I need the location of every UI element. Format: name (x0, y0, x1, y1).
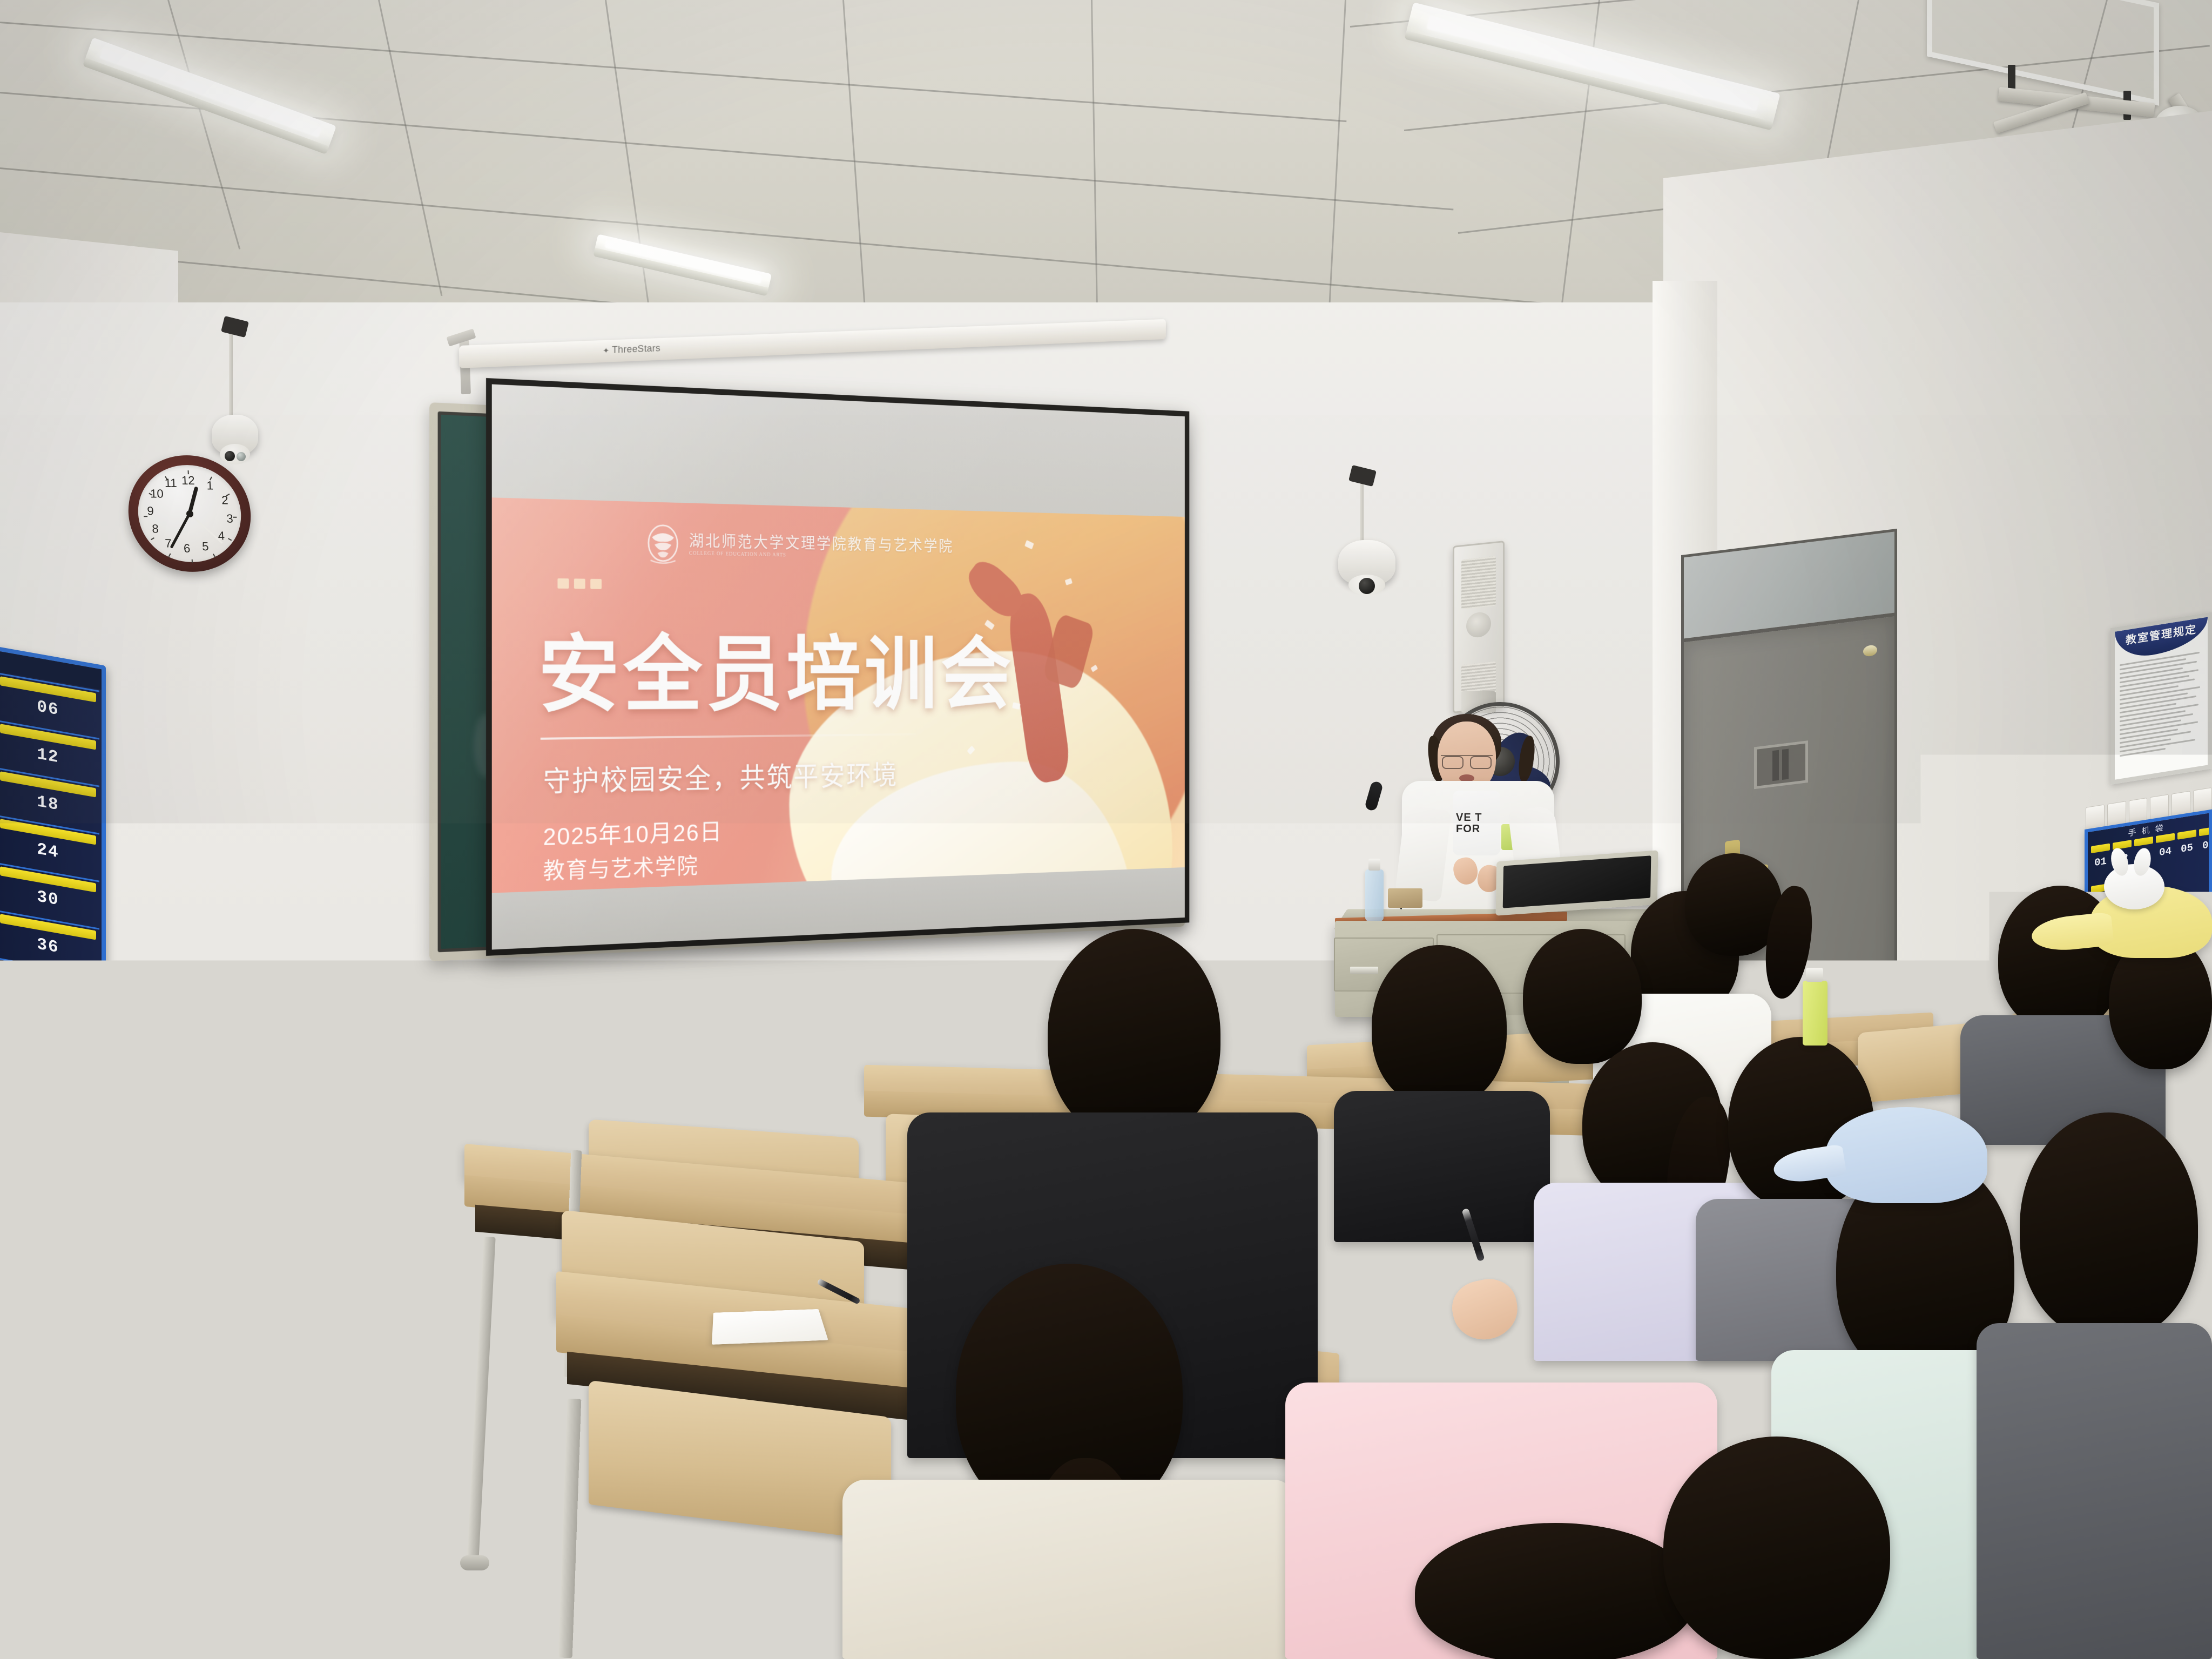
slide-organization: 教育与艺术学院 (543, 848, 699, 886)
notepad[interactable] (712, 1309, 828, 1345)
bottle-cap (1368, 859, 1380, 871)
clock-number: 10 (150, 487, 164, 501)
clock-number: 3 (226, 512, 233, 526)
light-blue-cap (1825, 1107, 1987, 1203)
pocket-number: 01 (2090, 854, 2111, 869)
bunny-plush-icon (2104, 864, 2164, 909)
student-torso (1977, 1323, 2212, 1659)
monitor-screen (1503, 855, 1651, 908)
pocket-number: 04 (2155, 844, 2176, 859)
presenter-hair-side (1516, 735, 1537, 783)
clock-number: 9 (147, 504, 154, 518)
student-head (1523, 929, 1642, 1064)
water-bottle[interactable] (1365, 869, 1384, 921)
chalk-box[interactable] (1388, 888, 1422, 908)
classroom-rules-poster: 教室管理规定 (2110, 612, 2212, 785)
presenter-glasses (1441, 755, 1493, 766)
camera-ir-icon (237, 452, 246, 461)
camera-lens-icon (225, 451, 235, 461)
door-peephole-icon (1863, 644, 1877, 657)
clock-number: 8 (152, 522, 159, 536)
phone-pocket-board-left: 06 12 18 24 30 36 42 48 (0, 645, 106, 1114)
projection-screen[interactable]: 湖北师范大学文理学院教育与艺术学院 COLLEGE OF EDUCATION A… (486, 378, 1189, 956)
student-head (1372, 945, 1507, 1107)
slide-content: 湖北师范大学文理学院教育与艺术学院 COLLEGE OF EDUCATION A… (492, 497, 1185, 899)
clock-number: 11 (164, 476, 177, 490)
university-emblem-icon (644, 521, 681, 567)
slide-date: 2025年10月26日 (543, 813, 723, 852)
student-head (2020, 1112, 2198, 1339)
screen-brand-label: ThreeStars (603, 343, 660, 357)
shirt-text-line-2: FOR (1456, 823, 1480, 835)
camera-mount-arm (229, 324, 233, 421)
student-torso (842, 1480, 1296, 1659)
door-vent (1754, 740, 1808, 789)
student-head (1048, 929, 1220, 1139)
classroom-photo: ThreeStars (0, 0, 2212, 1659)
clock-number: 12 (181, 474, 195, 488)
desk-leg-foot (460, 1555, 489, 1570)
slide-subtitle: 守护校园安全，共筑平安环境 (543, 754, 899, 800)
clock-face: 12 1 2 3 4 5 6 7 8 9 10 11 (136, 464, 243, 562)
slide-accent-dots (557, 578, 602, 589)
clock-number: 5 (202, 539, 209, 554)
poster-body-lines (2120, 651, 2203, 776)
presenter-shirt-text: VE T FOR (1456, 812, 1482, 835)
slide-logo: 湖北师范大学文理学院教育与艺术学院 COLLEGE OF EDUCATION A… (644, 521, 954, 571)
slide-title: 安全员培训会 (538, 606, 1015, 729)
clock-number: 7 (165, 536, 172, 550)
wall-speaker (1453, 541, 1505, 713)
bottle-cap (1806, 968, 1823, 982)
student-head (1663, 1437, 1890, 1659)
pocket-number: 06 (2198, 838, 2212, 853)
student-torso (1334, 1091, 1550, 1242)
wall-power-outlet[interactable] (909, 1042, 938, 1064)
beverage-bottle[interactable] (1803, 981, 1827, 1046)
clock-number: 2 (221, 493, 228, 507)
drawer-handle[interactable] (1350, 967, 1378, 974)
ptz-dome-camera-icon (1338, 540, 1395, 585)
clock-number: 6 (184, 542, 191, 556)
dome-security-camera-icon (212, 415, 258, 455)
camera-lens-icon (1359, 578, 1375, 594)
pink-handbag[interactable] (1198, 1296, 1360, 1426)
clock-number: 1 (206, 478, 213, 493)
student-head (1415, 1523, 1696, 1659)
clock-center-pin (186, 510, 194, 517)
pocket-number: 05 (2176, 841, 2197, 856)
wall-power-outlet[interactable] (102, 1125, 130, 1151)
slide-logo-text: 湖北师范大学文理学院教育与艺术学院 COLLEGE OF EDUCATION A… (689, 533, 954, 562)
lectern-monitor[interactable] (1495, 850, 1658, 915)
shirt-text-line-1: VE T (1456, 812, 1482, 824)
